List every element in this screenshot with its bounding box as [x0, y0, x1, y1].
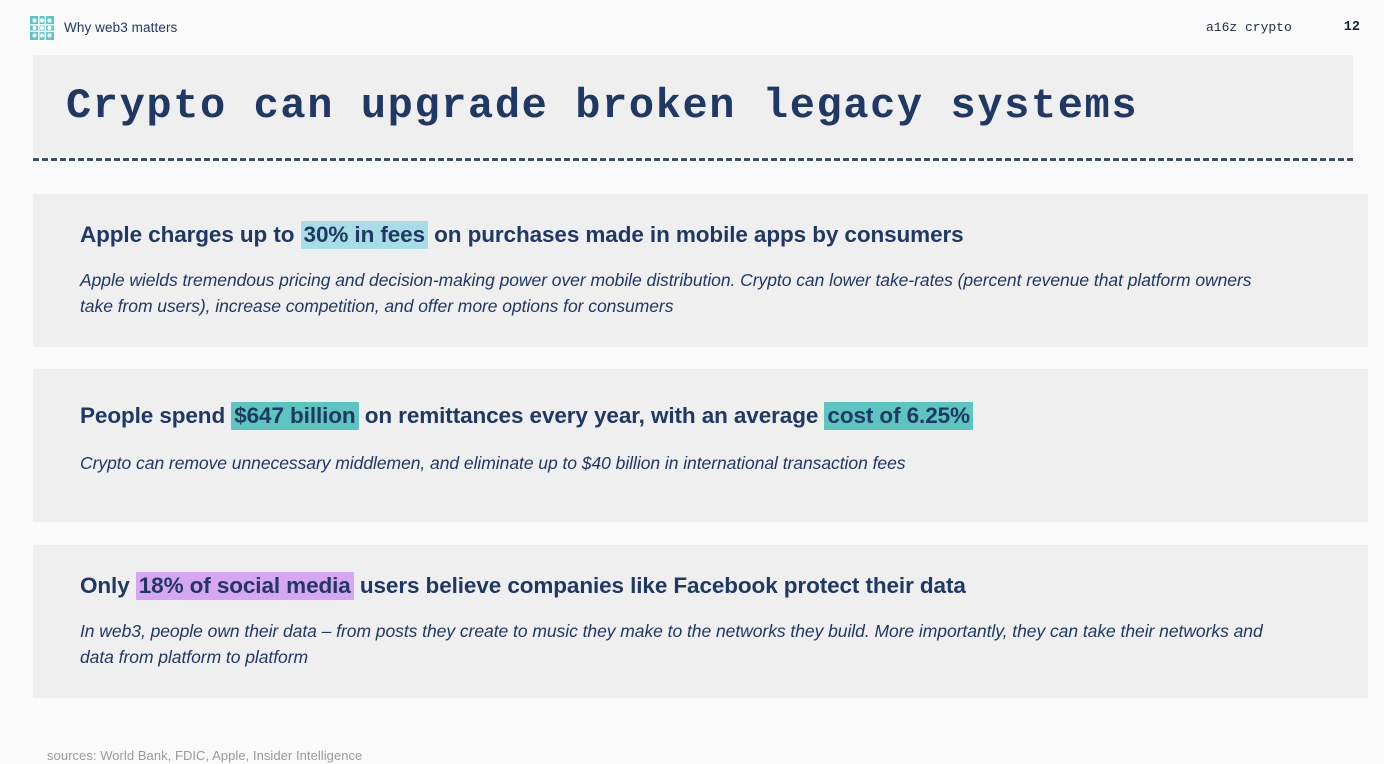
stat-card-body-remittances: Crypto can remove unnecessary middlemen,…	[80, 451, 1273, 477]
stat-card-headline-remittances: People spend $647 billion on remittances…	[80, 369, 1328, 429]
headline-text: Apple charges up to	[80, 222, 301, 247]
top-bar-right: a16z crypto 12	[1206, 0, 1384, 55]
headline-text: Only	[80, 573, 136, 598]
stat-card-headline-apple-fees: Apple charges up to 30% in fees on purch…	[80, 194, 1328, 248]
page-number: 12	[1344, 20, 1360, 35]
highlighted-stat: 30% in fees	[301, 221, 428, 249]
organization-label: a16z crypto	[1206, 20, 1292, 35]
top-bar: Why web3 matters a16z crypto 12	[0, 0, 1384, 55]
headline-text: People spend	[80, 403, 231, 428]
stat-card-apple-fees: Apple charges up to 30% in fees on purch…	[33, 194, 1368, 347]
title-divider	[33, 158, 1353, 161]
grid-dots-logo-icon	[30, 16, 54, 40]
stat-card-headline-social-media-trust: Only 18% of social media users believe c…	[80, 545, 1328, 599]
sources-note: sources: World Bank, FDIC, Apple, Inside…	[47, 748, 362, 763]
deck-section-label: Why web3 matters	[64, 20, 177, 35]
page-title: Crypto can upgrade broken legacy systems	[66, 82, 1138, 130]
highlighted-stat: $647 billion	[231, 402, 358, 430]
stat-card-body-social-media-trust: In web3, people own their data – from po…	[80, 619, 1273, 670]
headline-text: users believe companies like Facebook pr…	[354, 573, 966, 598]
headline-text: on remittances every year, with an avera…	[359, 403, 825, 428]
brand: Why web3 matters	[30, 16, 177, 40]
stat-card-social-media-trust: Only 18% of social media users believe c…	[33, 545, 1368, 698]
stat-card-remittances: People spend $647 billion on remittances…	[33, 369, 1368, 522]
highlighted-stat: cost of 6.25%	[824, 402, 973, 430]
title-block: Crypto can upgrade broken legacy systems	[33, 55, 1353, 157]
highlighted-stat: 18% of social media	[136, 572, 354, 600]
headline-text: on purchases made in mobile apps by cons…	[428, 222, 964, 247]
stat-card-body-apple-fees: Apple wields tremendous pricing and deci…	[80, 268, 1273, 319]
